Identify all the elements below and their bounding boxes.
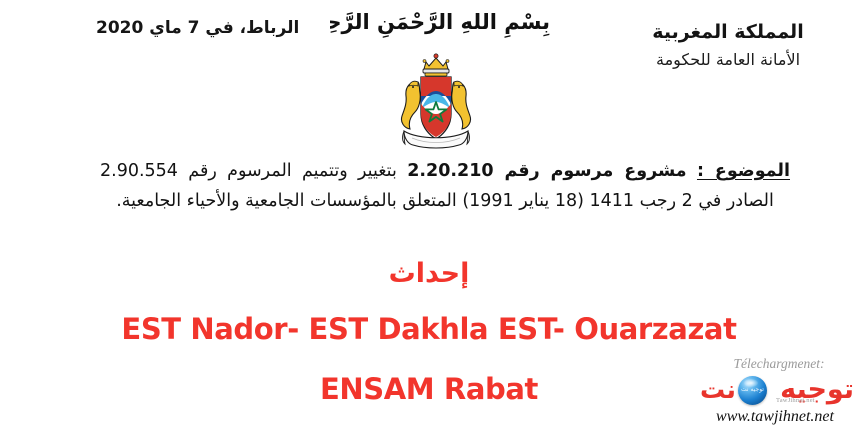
subject-label: الموضوع : (697, 161, 790, 181)
coat-of-arms-icon (398, 52, 474, 156)
tawjihnet-logo[interactable]: توجيه توجيه نت نت TawJihnet.net (698, 375, 854, 407)
logo-tiny-caption: TawJihnet.net (776, 397, 815, 404)
decree-number: مشروع مرسوم رقم 2.20.210 (407, 161, 686, 181)
document-header: الرباط، في 7 ماي 2020 بِسْمِ اللهِ الرَّ… (0, 0, 858, 160)
kingdom-title: المملكة المغربية (600, 20, 856, 46)
document-page: الرباط، في 7 ماي 2020 بِسْمِ اللهِ الرَّ… (0, 0, 858, 432)
blue-sphere-icon: توجيه نت (738, 376, 767, 405)
kingdom-heading: المملكة المغربية الأمانة العامة للحكومة (600, 20, 856, 71)
sphere-label: توجيه نت (739, 386, 766, 394)
download-label: Télechargmenet: (704, 356, 854, 372)
announcement-schools-line-1: EST Nador- EST Dakhla EST- Ouarzazat (0, 312, 858, 346)
place-and-date: الرباط، في 7 ماي 2020 (96, 18, 326, 38)
general-secretariat-subtitle: الأمانة العامة للحكومة (600, 49, 856, 71)
basmala-calligraphy: بِسْمِ اللهِ الرَّحْمَنِ الرَّحِيمِ (330, 2, 550, 46)
site-watermark[interactable]: Télechargmenet: توجيه توجيه نت نت TawJih… (690, 356, 858, 432)
subject-paragraph: الموضوع : مشروع مرسوم رقم 2.20.210 بتغيي… (100, 156, 790, 216)
announcement-arabic-heading: إحداث (0, 258, 858, 296)
logo-arabic-net: نت (700, 375, 736, 405)
site-url[interactable]: www.tawjihnet.net (692, 408, 858, 426)
